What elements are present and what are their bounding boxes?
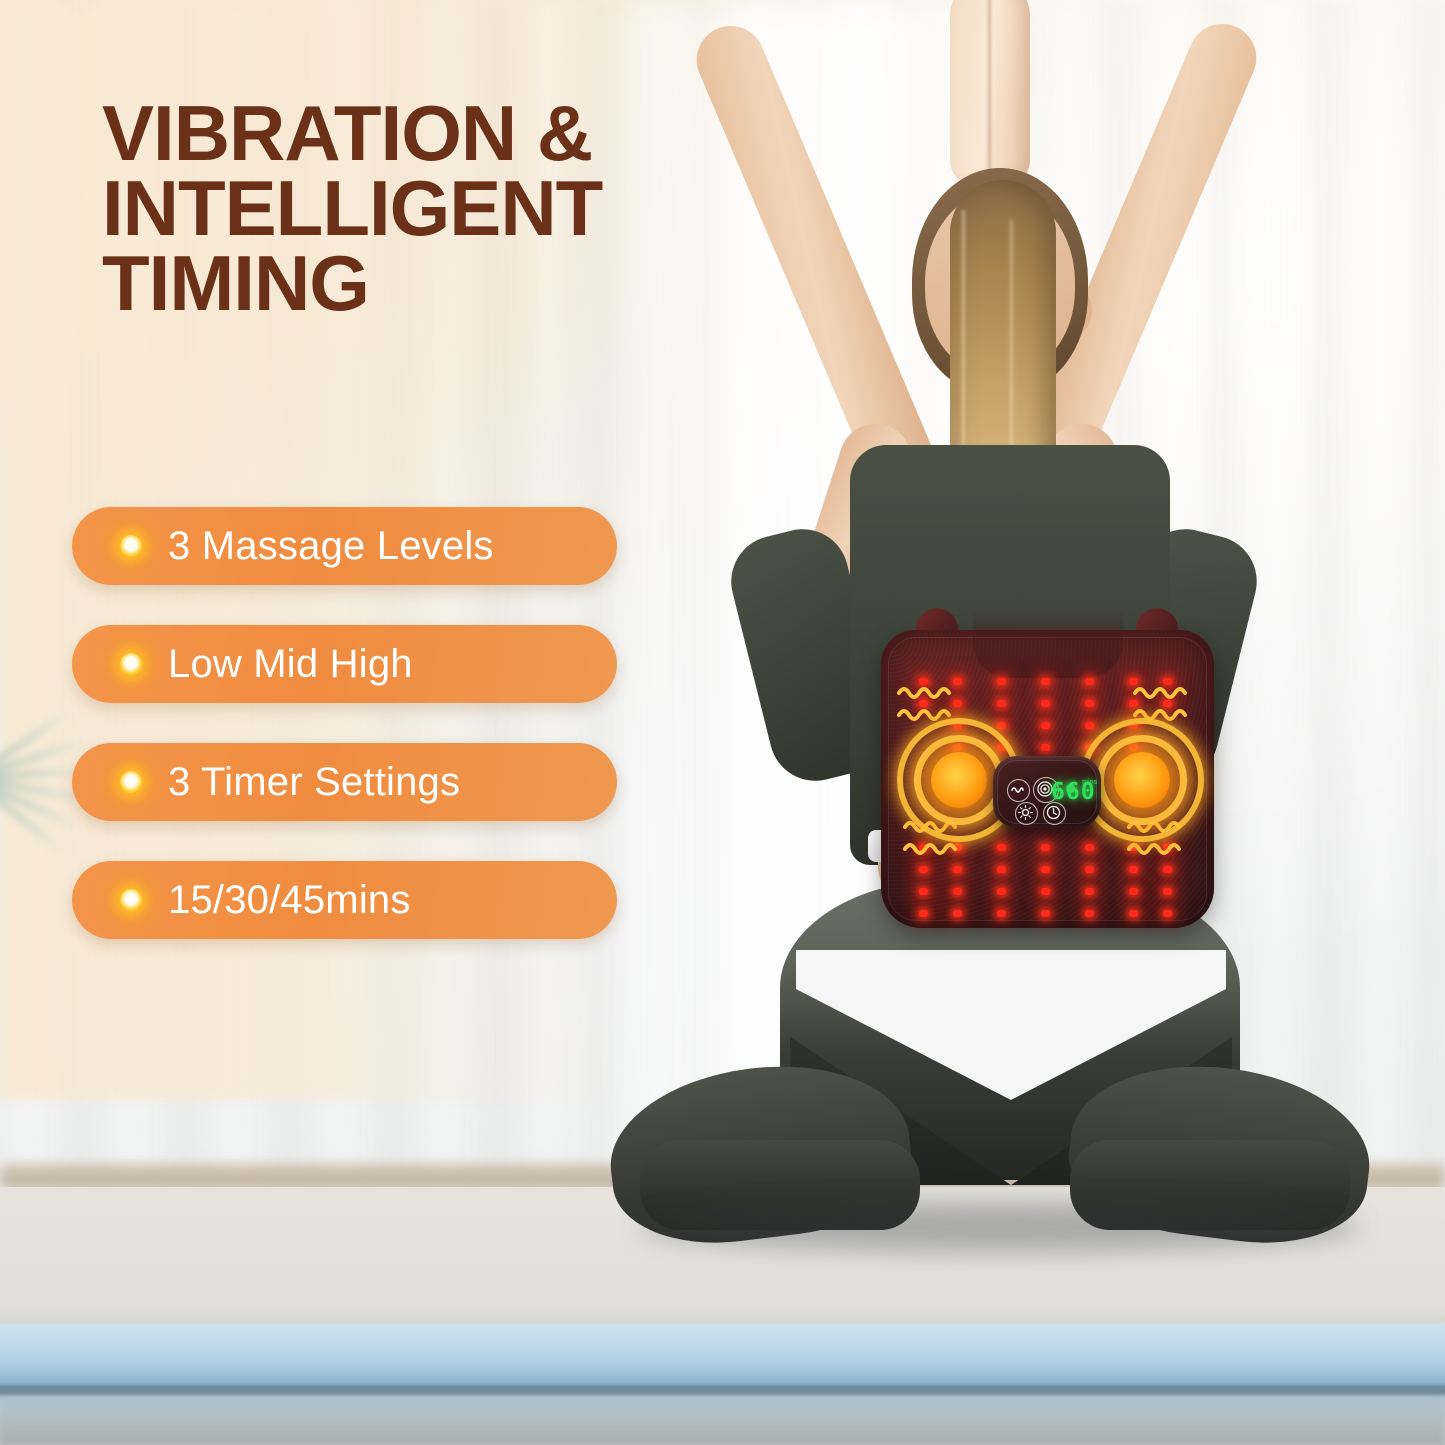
power-indicator-led bbox=[1066, 784, 1075, 793]
glow-dot-icon bbox=[120, 653, 142, 675]
page-title: VIBRATION & INTELLIGENT TIMING bbox=[102, 96, 762, 321]
feature-label: 3 Timer Settings bbox=[168, 760, 460, 805]
led-dot bbox=[1129, 910, 1138, 917]
led-dot bbox=[1163, 888, 1172, 895]
led-dot bbox=[953, 910, 962, 917]
led-dot bbox=[1041, 888, 1050, 895]
headline-line-1: VIBRATION & bbox=[102, 96, 762, 171]
prayer-hands bbox=[950, 0, 1030, 186]
timer-clock-icon[interactable] bbox=[1043, 802, 1066, 825]
led-dot bbox=[1129, 888, 1138, 895]
led-dot bbox=[953, 888, 962, 895]
led-dot bbox=[1085, 910, 1094, 917]
led-dot bbox=[997, 700, 1006, 707]
led-display: 660 mins bbox=[1051, 778, 1095, 806]
led-dot bbox=[1129, 866, 1138, 873]
led-dot bbox=[1085, 844, 1094, 851]
led-dot bbox=[1041, 678, 1050, 685]
display-value: 660 bbox=[1051, 779, 1096, 805]
feature-label: 3 Massage Levels bbox=[168, 524, 494, 569]
vibration-wave-icon bbox=[1133, 682, 1195, 704]
feature-label: 15/30/45mins bbox=[168, 878, 411, 923]
led-dot bbox=[1041, 722, 1050, 729]
led-dot bbox=[1163, 910, 1172, 917]
feature-pill-intensity[interactable]: Low Mid High bbox=[72, 625, 617, 703]
product-feature-banner: 660 mins VIBRATION & INTELLIGENT TIMING … bbox=[0, 0, 1445, 1445]
led-dot bbox=[919, 888, 928, 895]
led-dot bbox=[919, 866, 928, 873]
feature-label: Low Mid High bbox=[168, 642, 413, 687]
led-dot bbox=[1041, 844, 1050, 851]
feature-list: 3 Massage Levels Low Mid High 3 Timer Se… bbox=[72, 507, 632, 939]
led-dot bbox=[953, 866, 962, 873]
feature-pill-timer-settings[interactable]: 3 Timer Settings bbox=[72, 743, 617, 821]
led-dot bbox=[1085, 678, 1094, 685]
led-dot bbox=[1041, 910, 1050, 917]
led-dot bbox=[1041, 866, 1050, 873]
feature-pill-massage-levels[interactable]: 3 Massage Levels bbox=[72, 507, 617, 585]
led-dot bbox=[919, 910, 928, 917]
headline-line-3: TIMING bbox=[102, 246, 762, 321]
led-dot bbox=[997, 866, 1006, 873]
yoga-mat-reflection bbox=[0, 1389, 1445, 1437]
led-dot bbox=[1041, 744, 1050, 751]
led-dot bbox=[997, 888, 1006, 895]
led-dot bbox=[1085, 700, 1094, 707]
led-dot bbox=[1041, 700, 1050, 707]
heating-massage-pad[interactable]: 660 mins bbox=[875, 608, 1220, 928]
feature-pill-durations[interactable]: 15/30/45mins bbox=[72, 861, 617, 939]
glow-dot-icon bbox=[120, 771, 142, 793]
massage-spiral-icon[interactable] bbox=[1033, 777, 1059, 803]
glow-dot-icon bbox=[120, 889, 142, 911]
led-dot bbox=[997, 678, 1006, 685]
led-dot bbox=[997, 910, 1006, 917]
headline-line-2: INTELLIGENT bbox=[102, 171, 762, 246]
display-unit: mins bbox=[1082, 779, 1097, 787]
heat-icon[interactable] bbox=[1015, 802, 1038, 825]
body-shadow bbox=[640, 1202, 1360, 1252]
vibration-wave-icon bbox=[897, 682, 959, 704]
led-dot bbox=[1085, 866, 1094, 873]
glow-dot-icon bbox=[120, 535, 142, 557]
control-panel[interactable]: 660 mins bbox=[993, 756, 1101, 828]
led-dot bbox=[1163, 866, 1172, 873]
led-dot bbox=[1085, 888, 1094, 895]
vibration-wave-icon[interactable] bbox=[1007, 779, 1030, 802]
